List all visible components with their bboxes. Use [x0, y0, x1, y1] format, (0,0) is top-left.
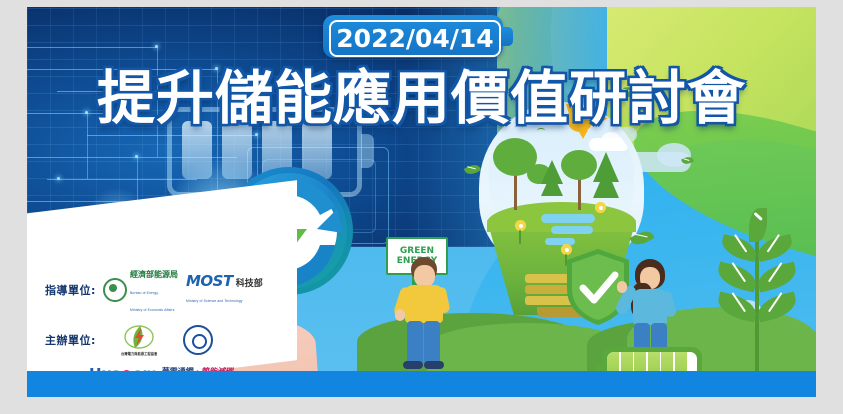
tier-energy-mark-icon [124, 324, 154, 350]
organizer-row: 主辦單位: 台灣電力與能源工程協會 [45, 324, 295, 356]
tree-2 [561, 150, 597, 180]
guidance-row: 指導單位: 經濟部能源局 Bureau of Energy, Ministry … [45, 265, 295, 315]
organizer-logos: 台灣電力與能源工程協會 [103, 324, 213, 356]
most-mark: MOST [186, 274, 233, 290]
sapling-plant [717, 212, 797, 372]
credits-block: 指導單位: 經濟部能源局 Bureau of Energy, Ministry … [45, 265, 295, 383]
logo-bureau-of-energy: 經濟部能源局 Bureau of Energy, Ministry of Eco… [103, 265, 178, 315]
bottom-bar [27, 371, 816, 397]
energy-seminar-banner: GREEN ENERGY [0, 0, 843, 414]
date-badge-terminal [501, 27, 513, 46]
bureau-of-energy-mark-icon [103, 278, 127, 302]
bulb-lake-2 [551, 226, 593, 234]
logo-tier-energy-lab: 台灣電力與能源工程協會 [121, 324, 157, 356]
flower-3 [595, 202, 606, 213]
association-seal-icon [183, 325, 213, 355]
banner-stage: GREEN ENERGY [27, 7, 816, 397]
bureau-of-energy-text: 經濟部能源局 Bureau of Energy, Ministry of Eco… [130, 265, 178, 315]
date-badge-border: 2022/04/14 [329, 20, 501, 57]
tier-energy-cn: 台灣電力與能源工程協會 [121, 351, 157, 356]
bulb-lake-3 [545, 238, 575, 245]
pine-2b [593, 168, 619, 198]
sign-line-1: GREEN [400, 246, 434, 256]
pine-1b [541, 172, 563, 196]
date-text: 2022/04/14 [336, 26, 493, 51]
most-cn: 科技部 [236, 280, 263, 289]
page-title: 提升儲能應用價值研討會 [27, 51, 816, 135]
person-left [397, 257, 449, 367]
guidance-logos: 經濟部能源局 Bureau of Energy, Ministry of Eco… [103, 265, 263, 315]
logo-most: MOST 科技部 Ministry of Science and Technol… [186, 274, 263, 307]
logo-association-seal [183, 325, 213, 355]
date-badge: 2022/04/14 [323, 15, 513, 58]
guidance-label: 指導單位: [45, 282, 103, 298]
bureau-of-energy-en2: Ministry of Economic Affairs [130, 308, 174, 312]
organizer-label: 主辦單位: [45, 332, 103, 348]
most-en: Ministry of Science and Technology [186, 299, 243, 303]
tier-energy-svg [124, 324, 154, 350]
bulb-lake [541, 214, 595, 223]
most-text: MOST 科技部 Ministry of Science and Technol… [186, 274, 263, 307]
bureau-of-energy-en1: Bureau of Energy, [130, 291, 159, 295]
bureau-of-energy-cn: 經濟部能源局 [130, 270, 178, 279]
